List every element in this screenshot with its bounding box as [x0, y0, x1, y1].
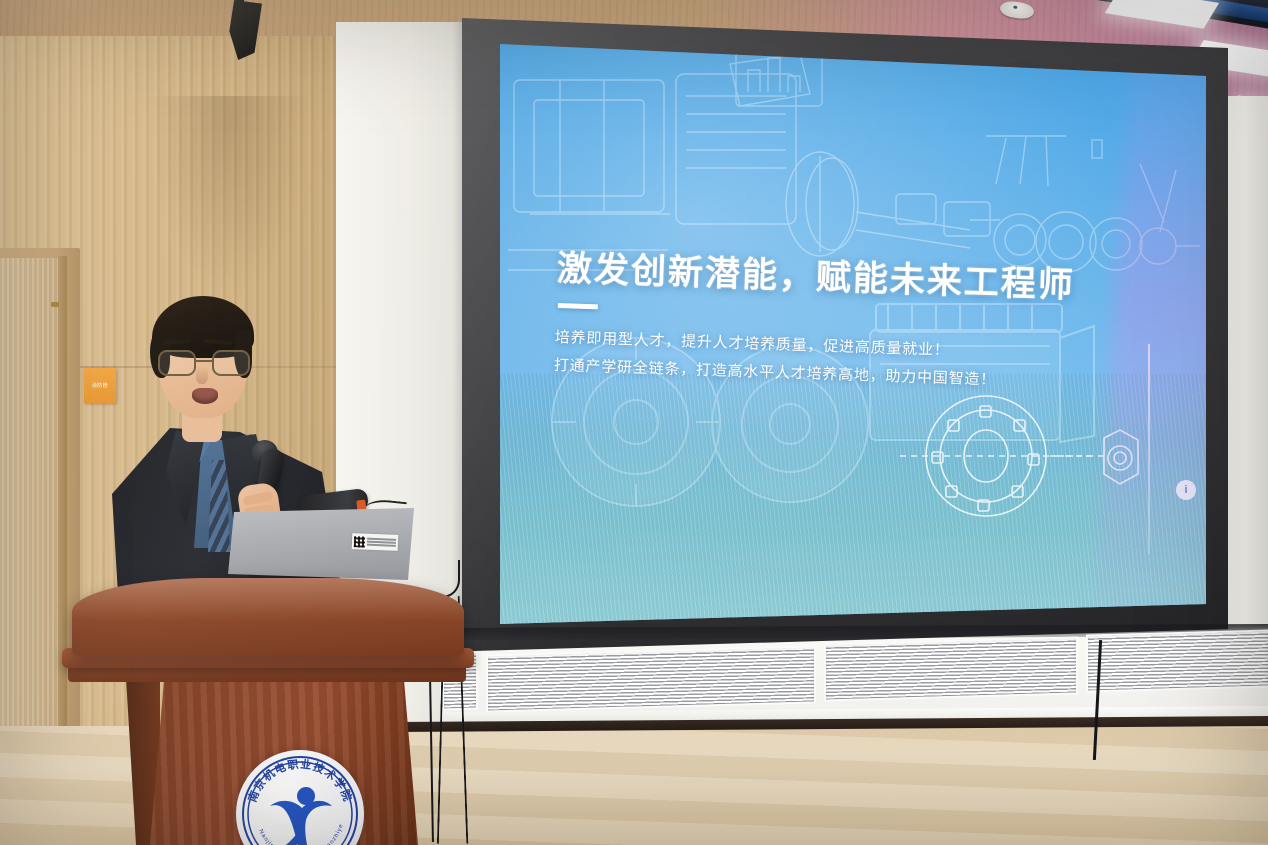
- door-handle[interactable]: [51, 302, 59, 307]
- air-vent-grille: [1086, 629, 1268, 692]
- smoke-detector-led: [1013, 5, 1017, 9]
- mouth: [192, 388, 218, 404]
- podium-sheen: [72, 578, 464, 656]
- svg-text:Nanjing: Nanjing: [257, 829, 278, 845]
- slide-text-block: 激发创新潜能，赋能未来工程师 培养即用型人才，提升人才培养质量，促进高质量就业！…: [553, 240, 1197, 401]
- lecture-hall-scene: 消防栓: [0, 0, 1268, 845]
- svg-text:Jidianzhiye: Jidianzhiye: [316, 823, 345, 845]
- presentation-slide[interactable]: i 激发创新潜能，赋能未来工程师 培养即用型人才，提升人才培养质量，促进高质量就…: [500, 44, 1206, 624]
- wall-shadow: [150, 96, 310, 296]
- podium-desktop: [72, 578, 464, 656]
- glasses-bridge: [196, 360, 212, 362]
- slide-divider: [558, 303, 598, 309]
- glasses-lens-left: [158, 350, 196, 376]
- glasses-lens-right: [212, 350, 250, 376]
- sticker-text-lines: [367, 538, 396, 547]
- nose: [196, 366, 208, 384]
- wall-sign-label: 消防栓: [92, 383, 108, 389]
- emblem-artwork: 南京机电职业技术学院 Nanjing Jidianzhiye: [236, 750, 364, 845]
- laptop-qr-sticker: [352, 533, 399, 551]
- school-emblem: 南京机电职业技术学院 Nanjing Jidianzhiye: [236, 750, 364, 845]
- qr-code-icon: [354, 536, 365, 547]
- air-vent-grille: [824, 636, 1078, 701]
- air-vent-grille: [486, 645, 816, 712]
